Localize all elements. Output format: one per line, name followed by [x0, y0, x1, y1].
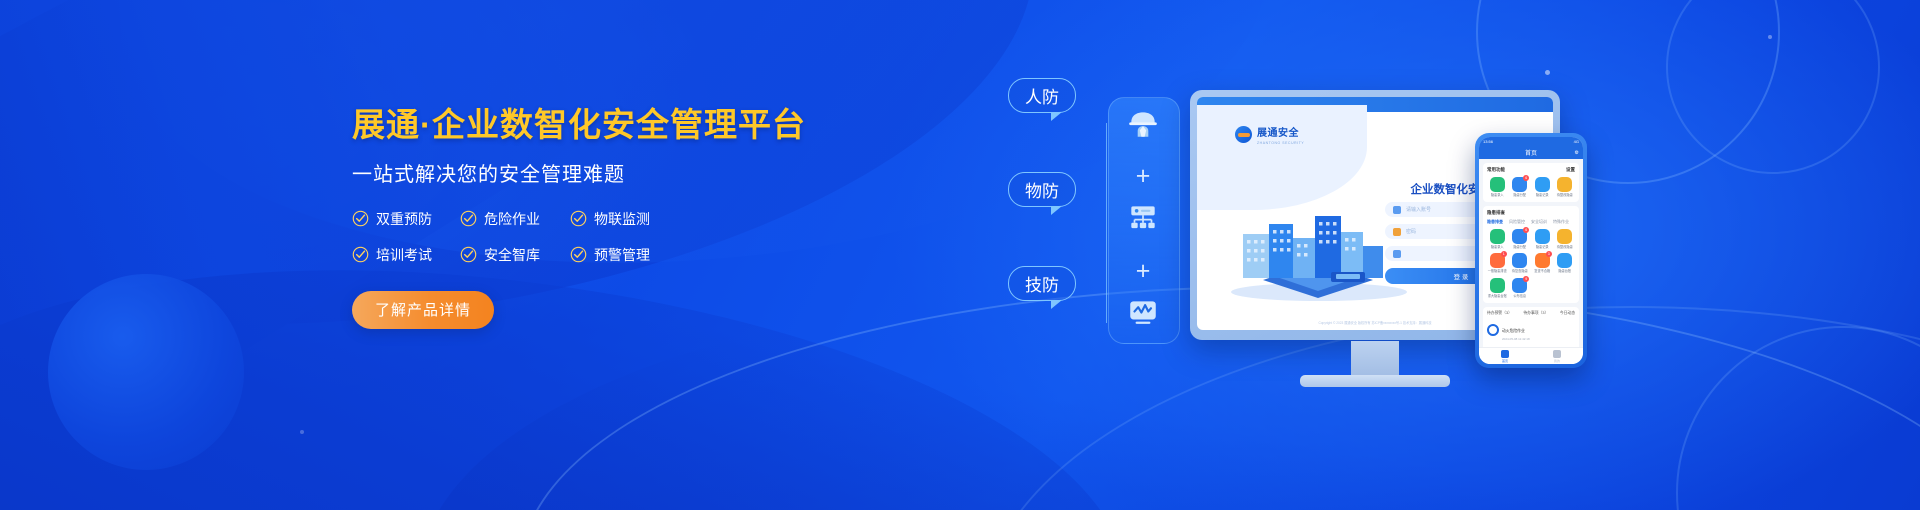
tab-0[interactable]: 隐患排查 [1487, 219, 1503, 225]
common-functions-grid: 隐患录入 6 隐患分配 隐患记录 [1487, 177, 1575, 198]
grid-item-label: 重大隐患台账 [1488, 295, 1507, 299]
tab-label: 首页 [1502, 359, 1508, 363]
feature-label: 培训考试 [376, 245, 432, 265]
list-item-time: 2024-05-08 11:42:18 [1502, 337, 1575, 341]
hero-banner: 展通·企业数智化安全管理平台 一站式解决您的安全管理难题 双重预防 危险作业 [0, 0, 1920, 510]
grid-item[interactable]: 6 隐患分配 [1510, 229, 1531, 250]
city-illustration [1223, 210, 1413, 302]
pillar-badge-renfang: 人防 [1008, 78, 1076, 113]
check-circle-icon [352, 246, 369, 263]
feature-label: 预警管理 [594, 245, 650, 265]
mobile-phone-mockup: 13:56 4G 首页 ⚙ 常用功能 设置 隐患录入 [1475, 133, 1587, 368]
list-item-title: 动火危险作业 [1502, 329, 1525, 333]
grid-item[interactable]: 隐患记录 [1532, 177, 1553, 198]
pillar-icon-device [1120, 197, 1166, 239]
hazard-header: 隐患排查 [1487, 210, 1575, 216]
major-ledger-icon [1490, 278, 1505, 293]
badge-count: 6 [1523, 227, 1529, 233]
grid-item[interactable]: 隐患录入 [1487, 229, 1508, 250]
brand-name-latin: ZHANTONG SECURITY [1257, 141, 1304, 145]
feature-label: 危险作业 [484, 209, 540, 229]
background-circle-bottom-left [48, 274, 244, 470]
tab-label: 我的 [1554, 359, 1560, 363]
tab-2[interactable]: 安全培训 [1531, 219, 1547, 225]
page-title: 展通·企业数智化安全管理平台 [352, 105, 832, 145]
assign-icon: 6 [1512, 177, 1527, 192]
grid-item-label: 隐患录入 [1491, 246, 1504, 250]
common-functions-card: 常用功能 设置 隐患录入 6 隐患分配 [1483, 163, 1579, 202]
tab-1[interactable]: 风险管控 [1509, 219, 1525, 225]
check-circle-icon [570, 246, 587, 263]
grid-item[interactable]: 1 一般隐患排查 [1487, 253, 1508, 274]
todo-header-0[interactable]: 待办预警（3） [1487, 311, 1512, 316]
phone-screen: 13:56 4G 首页 ⚙ 常用功能 设置 隐患录入 [1479, 137, 1583, 364]
hero-copy: 展通·企业数智化安全管理平台 一站式解决您的安全管理难题 双重预防 危险作业 [352, 105, 832, 329]
feature-list: 双重预防 危险作业 物联监测 [352, 209, 832, 265]
monitor-stand-base [1300, 375, 1450, 387]
phone-nav-title: 首页 [1525, 148, 1537, 157]
status-signal: 4G [1574, 139, 1579, 144]
feature-item: 预警管理 [570, 245, 680, 265]
network-device-icon [1126, 201, 1160, 235]
grid-item[interactable]: 待整改隐患 [1555, 177, 1576, 198]
ledger-icon [1557, 253, 1572, 268]
list-item[interactable]: 动火危险作业 2024-05-08 11:42:18 [1487, 319, 1575, 341]
grid-item[interactable]: 6 隐患分配 [1510, 177, 1531, 198]
pillar-connector-line [1106, 123, 1107, 323]
monitor-stand-neck [1351, 341, 1399, 377]
grid-item-label: 隐患录入 [1491, 194, 1504, 198]
brand-mark-icon [1235, 126, 1252, 143]
grid-item[interactable]: 隐患台账 [1555, 253, 1576, 274]
pillar-badge-label: 物防 [1025, 177, 1059, 202]
pillar-badge-wufang: 物防 [1008, 172, 1076, 207]
monitoring-wave-icon [1126, 295, 1160, 329]
background-dot [300, 430, 304, 434]
edit-icon [1490, 229, 1505, 244]
assign-icon: 6 [1512, 229, 1527, 244]
grid-item[interactable]: 9 公布信息 [1510, 278, 1531, 299]
feature-label: 双重预防 [376, 209, 432, 229]
grid-item-label: 公布信息 [1513, 295, 1526, 299]
feature-label: 安全智库 [484, 245, 540, 265]
grid-item-label: 隐患记录 [1536, 246, 1549, 250]
feature-item: 危险作业 [460, 209, 570, 229]
section-title: 隐患排查 [1487, 210, 1505, 216]
monitor-logo: 展通安全 ZHANTONG SECURITY [1235, 123, 1304, 145]
phone-status-bar: 13:56 4G [1479, 137, 1583, 146]
phone-nav-bar: 首页 ⚙ [1479, 146, 1583, 159]
product-illustration: + + 人防 物防 [1020, 55, 1900, 465]
worker-helmet-icon [1126, 107, 1160, 141]
tab-profile[interactable]: 我的 [1553, 350, 1561, 363]
recheck-icon [1512, 253, 1527, 268]
status-time: 13:56 [1483, 139, 1493, 144]
pillar-icon-monitor [1120, 291, 1166, 333]
feature-item: 双重预防 [352, 209, 460, 229]
todo-list-headers: 待办预警（3） 待办事项（3） 今日动态 [1487, 311, 1575, 316]
todo-header-2[interactable]: 今日动态 [1560, 311, 1575, 316]
feature-item: 物联监测 [570, 209, 680, 229]
tab-home[interactable]: 首页 [1501, 350, 1509, 363]
grid-item-label: 隐患分配 [1513, 194, 1526, 198]
monitor-decorative-blob [1197, 105, 1367, 210]
check-circle-icon [352, 210, 369, 227]
status-dot-icon [1487, 324, 1499, 336]
edit-icon [1490, 177, 1505, 192]
feature-label: 物联监测 [594, 209, 650, 229]
settings-link[interactable]: 设置 [1566, 167, 1575, 173]
gear-icon[interactable]: ⚙ [1575, 150, 1579, 156]
grid-item-label: 复查不合格 [1534, 270, 1550, 274]
grid-item-label: 待复查隐患 [1512, 270, 1528, 274]
grid-item-label: 一般隐患排查 [1488, 270, 1507, 274]
publish-icon: 9 [1512, 278, 1527, 293]
check-circle-icon [460, 246, 477, 263]
pillar-plus-2: + [1130, 258, 1156, 284]
badge-count: 1 [1501, 251, 1507, 257]
badge-count: 9 [1523, 276, 1529, 282]
brand-name: 展通安全 [1257, 128, 1299, 139]
todo-header-1[interactable]: 待办事项（3） [1523, 311, 1548, 316]
hazard-grid: 隐患录入 6 隐患分配 隐患记录 [1487, 229, 1575, 299]
pillar-badge-label: 技防 [1025, 271, 1059, 296]
record-icon [1535, 177, 1550, 192]
grid-item[interactable]: 隐患记录 [1532, 229, 1553, 250]
hazard-tabs: 隐患排查 风险管控 安全培训 特殊作业 [1487, 219, 1575, 225]
grid-item-label: 待整改隐患 [1557, 246, 1573, 250]
check-circle-icon [570, 210, 587, 227]
grid-item-label: 待整改隐患 [1557, 194, 1573, 198]
common-functions-header: 常用功能 设置 [1487, 167, 1575, 173]
pillar-plus-1: + [1130, 163, 1156, 189]
feature-item: 培训考试 [352, 245, 460, 265]
user-icon [1553, 350, 1561, 358]
tab-3[interactable]: 特殊作业 [1553, 219, 1569, 225]
hazard-card: 隐患排查 隐患排查 风险管控 安全培训 特殊作业 隐患录入 [1483, 206, 1579, 303]
list-item-text: 动火危险作业 2024-05-08 11:42:18 [1502, 319, 1575, 341]
home-icon [1501, 350, 1509, 358]
phone-tab-bar: 首页 我的 [1479, 347, 1583, 364]
grid-item[interactable]: 隐患录入 [1487, 177, 1508, 198]
feature-item: 安全智库 [460, 245, 570, 265]
pillar-badge-jifang: 技防 [1008, 266, 1076, 301]
grid-item-label: 隐患记录 [1536, 194, 1549, 198]
badge-count: 3 [1546, 251, 1552, 257]
warning-icon [1557, 177, 1572, 192]
background-dot [1768, 35, 1772, 39]
grid-item-label: 隐患分配 [1513, 246, 1526, 250]
section-title: 常用功能 [1487, 167, 1505, 173]
check-circle-icon [460, 210, 477, 227]
grid-item[interactable]: 待复查隐患 [1510, 253, 1531, 274]
badge-count: 6 [1523, 175, 1529, 181]
grid-item-label: 隐患台账 [1558, 270, 1571, 274]
page-subtitle: 一站式解决您的安全管理难题 [352, 158, 832, 187]
warning-icon [1557, 229, 1572, 244]
inspection-icon: 1 [1490, 253, 1505, 268]
fail-icon: 3 [1535, 253, 1550, 268]
pillar-icon-worker [1120, 103, 1166, 145]
pillar-badge-label: 人防 [1025, 83, 1059, 108]
learn-more-button[interactable]: 了解产品详情 [352, 291, 494, 329]
record-icon [1535, 229, 1550, 244]
grid-item[interactable]: 3 复查不合格 [1532, 253, 1553, 274]
grid-item[interactable]: 待整改隐患 [1555, 229, 1576, 250]
grid-item[interactable]: 重大隐患台账 [1487, 278, 1508, 299]
